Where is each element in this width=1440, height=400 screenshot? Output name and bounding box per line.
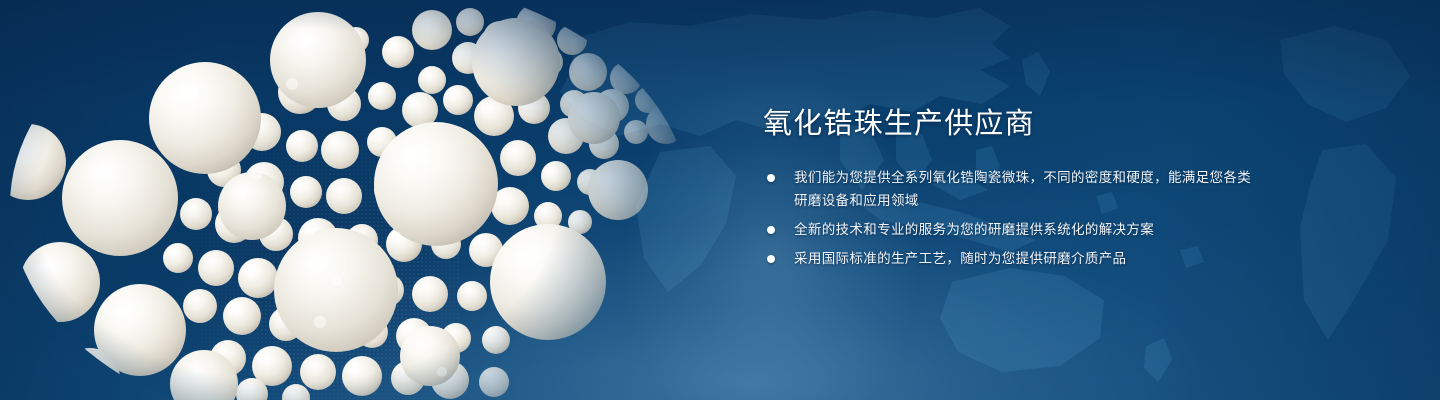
- list-item: 采用国际标准的生产工艺，随时为您提供研磨介质产品: [763, 247, 1263, 270]
- list-item: 我们能为您提供全系列氧化锆陶瓷微珠，不同的密度和硬度，能满足您各类研磨设备和应用…: [763, 166, 1263, 212]
- list-item-label: 全新的技术和专业的服务为您的研磨提供系统化的解决方案: [794, 222, 1154, 237]
- list-item: 全新的技术和专业的服务为您的研磨提供系统化的解决方案: [763, 218, 1263, 241]
- bullet-dot-icon: [767, 174, 775, 182]
- hero-banner: 氧化锆珠生产供应商 我们能为您提供全系列氧化锆陶瓷微珠，不同的密度和硬度，能满足…: [0, 0, 1440, 400]
- list-item-label: 我们能为您提供全系列氧化锆陶瓷微珠，不同的密度和硬度，能满足您各类研磨设备和应用…: [794, 170, 1251, 208]
- feature-list: 我们能为您提供全系列氧化锆陶瓷微珠，不同的密度和硬度，能满足您各类研磨设备和应用…: [763, 166, 1263, 270]
- bullet-dot-icon: [767, 226, 775, 234]
- list-item-label: 采用国际标准的生产工艺，随时为您提供研磨介质产品: [794, 251, 1126, 266]
- bullet-dot-icon: [767, 255, 775, 263]
- banner-copy: 氧化锆珠生产供应商 我们能为您提供全系列氧化锆陶瓷微珠，不同的密度和硬度，能满足…: [763, 104, 1263, 270]
- page-title: 氧化锆珠生产供应商: [763, 104, 1263, 144]
